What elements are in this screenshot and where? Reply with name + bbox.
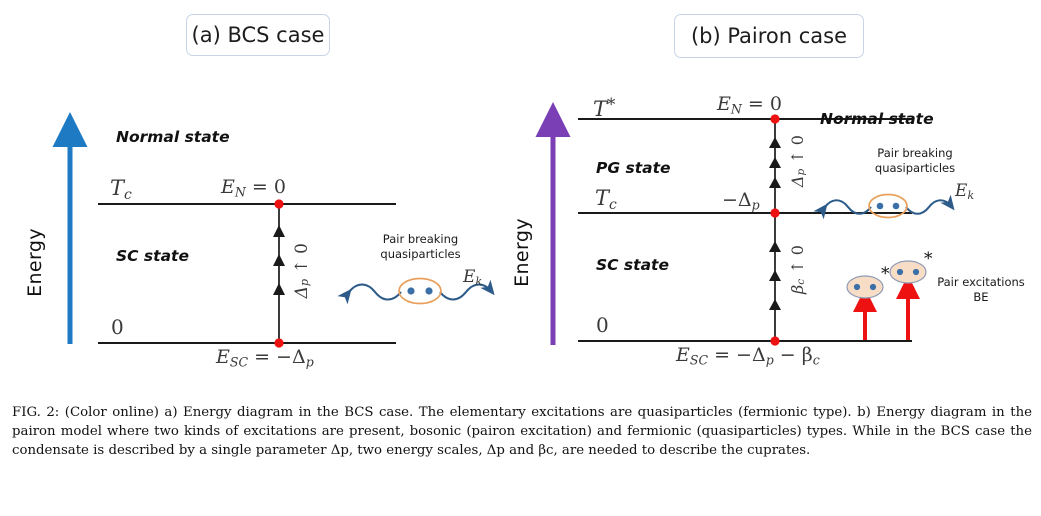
panel-a-node-top [274, 199, 283, 208]
panel-b-pg-state-label: PG state [596, 159, 671, 177]
panel-b-qp-note-line1: Pair breaking [845, 146, 985, 161]
panel-a-level-bottom-label: 0 [111, 315, 124, 339]
panel-b-sc-state-label: SC state [596, 256, 669, 274]
panel-b-qp-note-line2: quasiparticles [845, 161, 985, 176]
panel-b-qp-energy-label: Ek [955, 181, 974, 202]
panel-b-gap-lower-label: βc ↑ 0 [788, 245, 807, 294]
figure-area: (a) BCS case (b) Pairon case [0, 0, 1041, 400]
panel-b-node-mid [770, 208, 779, 217]
panel-a-pair-ellipse [399, 279, 441, 304]
panel-b-level-top-value: EN = 0 [717, 93, 782, 117]
panel-b-pair-excitation-1 [847, 276, 883, 340]
panel-a-axis-label: Energy [24, 228, 46, 297]
panel-a-level-top-value: EN = 0 [221, 176, 286, 200]
panel-b-level-bottom-value: ESC = −Δp − βc [676, 344, 820, 368]
panel-b-pair-excitation-2 [890, 261, 926, 340]
panel-b-pairon-star-2: * [924, 249, 933, 269]
panel-a-qp-energy-label: Ek [463, 267, 482, 288]
panel-a-level-bottom-value: ESC = −Δp [216, 346, 314, 370]
panel-b-gap-upper-label: Δp ↑ 0 [788, 135, 807, 187]
panel-b-level-bottom-label: 0 [596, 313, 609, 337]
panel-b-level-mid-value: −Δp [722, 189, 760, 213]
panel-a-gap-label: Δp ↑ 0 [292, 243, 312, 298]
panel-a-gap-arrows [273, 199, 285, 347]
panel-a-level-lines [98, 204, 396, 343]
panel-a-qp-note-line1: Pair breaking [348, 232, 493, 247]
figure-caption: FIG. 2: (Color online) a) Energy diagram… [12, 404, 1032, 461]
panel-a-sc-state-label: SC state [116, 247, 189, 265]
panel-b-normal-state-label: Normal state [820, 110, 934, 128]
panel-a-normal-state-label: Normal state [116, 128, 230, 146]
panel-b-gap-arrows-lower [769, 213, 781, 341]
panel-b-pair-excitation-note: Pair excitations BE [925, 275, 1037, 305]
panel-b-level-top-label: T* [593, 94, 615, 121]
panel-b-pair-note-line1: Pair excitations [925, 275, 1037, 290]
panel-b-level-mid-label: Tc [595, 186, 617, 213]
panel-a-qp-note-line2: quasiparticles [348, 247, 493, 262]
panel-b-quasiparticle-note: Pair breaking quasiparticles [845, 146, 985, 176]
panel-a-quasiparticle-note: Pair breaking quasiparticles [348, 232, 493, 262]
panel-b-gap-arrows-upper [769, 119, 781, 213]
panel-a-level-top-label: Tc [110, 176, 132, 203]
diagram-vectors [0, 0, 1041, 400]
panel-b-pairon-star-1: * [881, 264, 890, 284]
panel-b-pair-note-line2: BE [925, 290, 1037, 305]
panel-b-axis-label: Energy [511, 218, 533, 287]
